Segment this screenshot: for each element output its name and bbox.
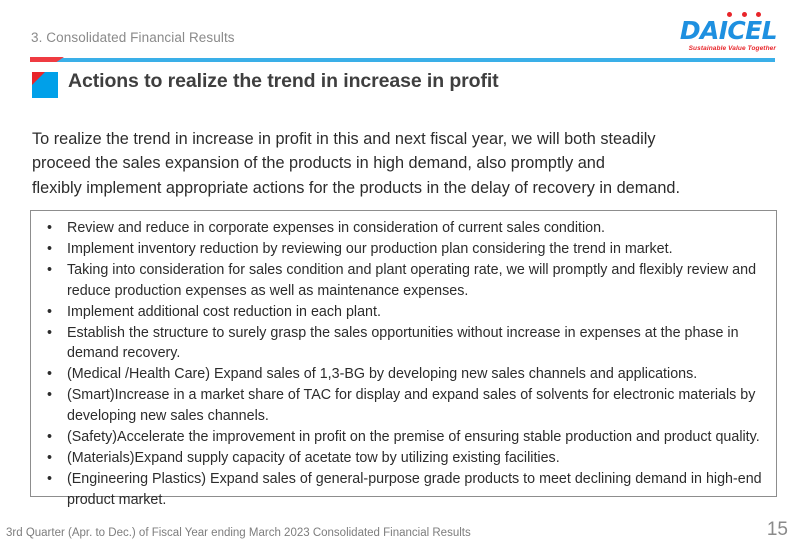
list-item: • Implement inventory reduction by revie… — [39, 239, 772, 260]
actions-list: • Review and reduce in corporate expense… — [39, 218, 772, 511]
list-item: • (Materials)Expand supply capacity of a… — [39, 448, 772, 469]
actions-box: • Review and reduce in corporate expense… — [30, 210, 777, 497]
bullet-icon: • — [47, 385, 52, 406]
lead-line: proceed the sales expansion of the produ… — [32, 151, 784, 175]
list-item: • Taking into consideration for sales co… — [39, 260, 772, 302]
daicel-logo: DAICEL Sustainable Value Together — [665, 12, 777, 54]
page-title: Actions to realize the trend in increase… — [68, 70, 499, 93]
header-divider — [30, 57, 775, 62]
list-item: • (Engineering Plastics) Expand sales of… — [39, 469, 772, 511]
list-item-text: (Materials)Expand supply capacity of ace… — [67, 448, 772, 469]
bullet-icon: • — [47, 469, 52, 490]
logo-tagline: Sustainable Value Together — [689, 45, 776, 52]
list-item-text: Implement additional cost reduction in e… — [67, 302, 772, 323]
title-row: Actions to realize the trend in increase… — [30, 70, 770, 102]
bullet-icon: • — [47, 323, 52, 344]
footer-note: 3rd Quarter (Apr. to Dec.) of Fiscal Yea… — [6, 527, 471, 539]
bullet-icon: • — [47, 302, 52, 323]
list-item: • Review and reduce in corporate expense… — [39, 218, 772, 239]
list-item-text: Establish the structure to surely grasp … — [67, 323, 772, 365]
lead-line: To realize the trend in increase in prof… — [32, 127, 784, 151]
section-breadcrumb: 3. Consolidated Financial Results — [31, 30, 235, 45]
title-marker-icon — [32, 72, 58, 98]
lead-paragraph: To realize the trend in increase in prof… — [32, 127, 784, 200]
list-item-text: (Medical /Health Care) Expand sales of 1… — [67, 364, 772, 385]
list-item-text: (Smart)Increase in a market share of TAC… — [67, 385, 772, 427]
list-item: • (Safety)Accelerate the improvement in … — [39, 427, 772, 448]
logo-wordmark: DAICEL — [680, 17, 777, 45]
list-item-text: (Engineering Plastics) Expand sales of g… — [67, 469, 772, 511]
list-item: • Implement additional cost reduction in… — [39, 302, 772, 323]
list-item-text: (Safety)Accelerate the improvement in pr… — [67, 427, 772, 448]
bullet-icon: • — [47, 427, 52, 448]
divider-blue-bar — [30, 58, 775, 62]
bullet-icon: • — [47, 260, 52, 281]
slide-footer: 3rd Quarter (Apr. to Dec.) of Fiscal Yea… — [0, 519, 799, 553]
list-item: • Establish the structure to surely gras… — [39, 323, 772, 365]
page-number: 15 — [767, 519, 788, 541]
list-item-text: Implement inventory reduction by reviewi… — [67, 239, 772, 260]
list-item: • (Smart)Increase in a market share of T… — [39, 385, 772, 427]
lead-line: flexibly implement appropriate actions f… — [32, 176, 784, 200]
list-item-text: Review and reduce in corporate expenses … — [67, 218, 772, 239]
bullet-icon: • — [47, 239, 52, 260]
bullet-icon: • — [47, 364, 52, 385]
bullet-icon: • — [47, 448, 52, 469]
list-item-text: Taking into consideration for sales cond… — [67, 260, 772, 302]
list-item: • (Medical /Health Care) Expand sales of… — [39, 364, 772, 385]
bullet-icon: • — [47, 218, 52, 239]
